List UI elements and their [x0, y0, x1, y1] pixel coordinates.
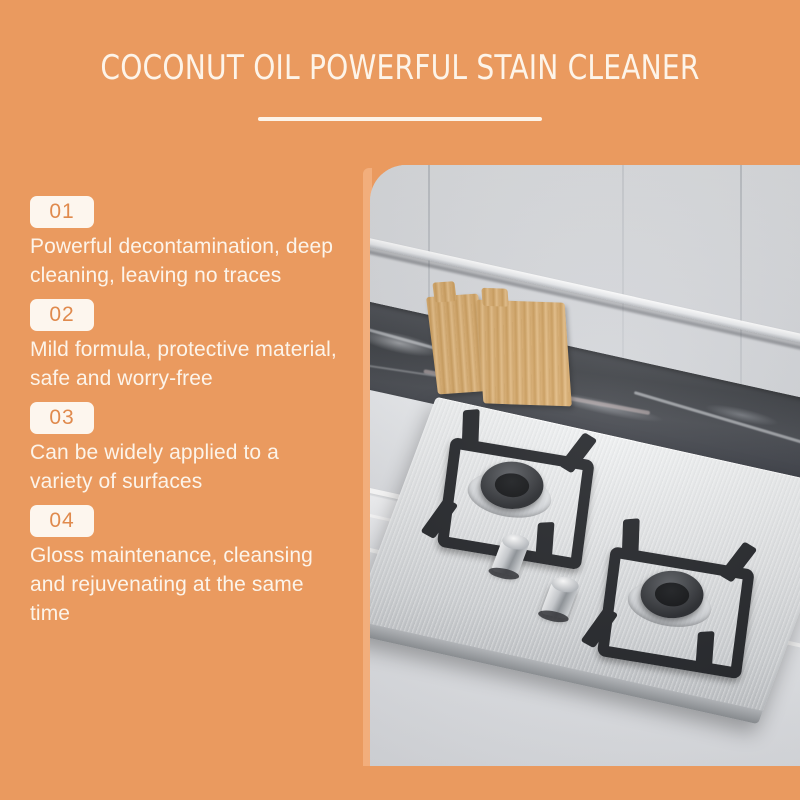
feature-description: Can be widely applied to a variety of su…	[30, 438, 342, 496]
poster-root: COCONUT OIL POWERFUL STAIN CLEANER 01 Po…	[0, 0, 800, 800]
feature-number-badge: 03	[30, 402, 94, 434]
feature-description: Mild formula, protective material, safe …	[30, 335, 342, 393]
grate-prong	[462, 409, 480, 449]
grate-prong	[535, 522, 554, 562]
feature-item-03: 03 Can be widely applied to a variety of…	[30, 402, 360, 496]
feature-number-badge: 04	[30, 505, 94, 537]
feature-number-badge: 01	[30, 196, 94, 228]
feature-number-badge: 02	[30, 299, 94, 331]
grate-prong	[622, 518, 640, 558]
product-photo-panel	[370, 165, 800, 766]
header: COCONUT OIL POWERFUL STAIN CLEANER	[0, 0, 800, 150]
control-knob-right[interactable]	[540, 581, 578, 619]
feature-item-02: 02 Mild formula, protective material, sa…	[30, 299, 360, 393]
feature-list: 01 Powerful decontamination, deep cleani…	[30, 196, 360, 637]
cutting-board	[476, 300, 572, 407]
title-divider	[258, 117, 542, 121]
kitchen-photo	[370, 165, 800, 766]
feature-description: Powerful decontamination, deep cleaning,…	[30, 232, 342, 290]
feature-item-04: 04 Gloss maintenance, cleansing and reju…	[30, 505, 360, 628]
grate-prong	[695, 631, 714, 671]
feature-description: Gloss maintenance, cleansing and rejuven…	[30, 541, 342, 628]
marble-vein	[634, 391, 800, 445]
burner-cap-center	[651, 579, 693, 609]
burner-right	[575, 518, 767, 673]
page-title: COCONUT OIL POWERFUL STAIN CLEANER	[32, 48, 768, 88]
feature-item-01: 01 Powerful decontamination, deep cleani…	[30, 196, 360, 290]
burner-cap-center	[491, 470, 533, 500]
